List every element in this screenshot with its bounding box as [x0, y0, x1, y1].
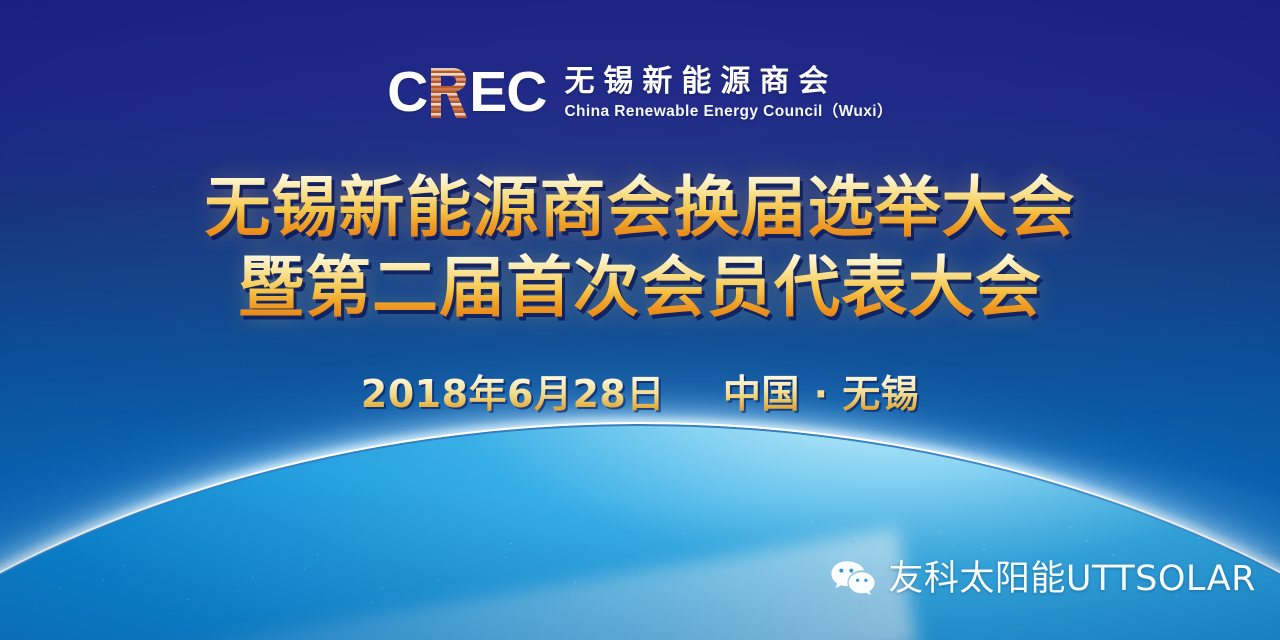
org-name-en: China Renewable Energy Council（Wuxi）	[564, 103, 892, 120]
watermark-label: 友科太阳能UTTSOLAR	[888, 562, 1256, 597]
wechat-watermark: 友科太阳能UTTSOLAR	[830, 560, 1256, 598]
conference-poster: C	[0, 0, 1280, 640]
headline-line-1: 无锡新能源商会换届选举大会	[0, 168, 1280, 248]
event-location: 中国 · 无锡	[723, 371, 919, 417]
crec-acronym: C	[387, 64, 546, 121]
city-lights-secondary	[0, 440, 1280, 640]
wechat-icon	[830, 560, 876, 598]
crec-logo: C	[0, 64, 1280, 121]
logo-text-block: 无锡新能源商会 China Renewable Energy Council（W…	[564, 64, 892, 120]
headline-line-2: 暨第二届首次会员代表大会	[0, 248, 1280, 328]
event-meta: 2018年6月28日 中国 · 无锡	[0, 371, 1280, 417]
crec-letters-ec: EC	[469, 64, 546, 121]
event-date: 2018年6月28日	[361, 371, 665, 417]
org-name-cn: 无锡新能源商会	[564, 66, 892, 98]
headline-block: 无锡新能源商会换届选举大会 暨第二届首次会员代表大会	[0, 168, 1280, 328]
earth-globe	[0, 426, 1280, 640]
crec-solar-r-icon	[428, 66, 468, 120]
crec-letter-c: C	[387, 64, 427, 121]
